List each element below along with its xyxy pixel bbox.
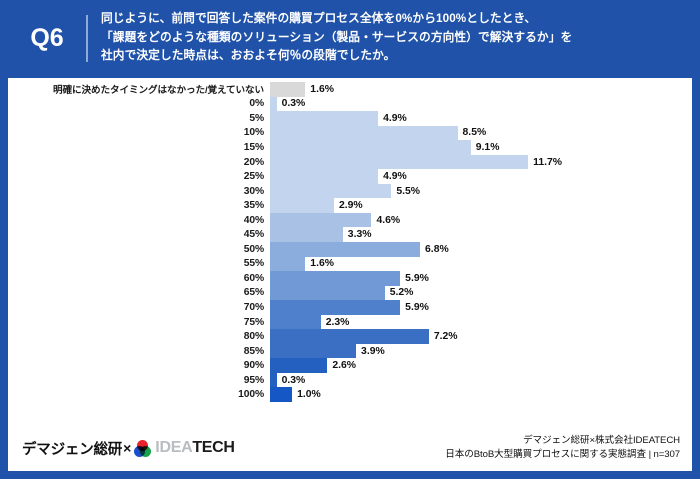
bar-area: 9.1% [270,140,692,155]
slide-root: Q6 同じように、前問で回答した案件の購買プロセス全体を0%から100%としたと… [0,0,700,479]
question-number-badge: Q6 [0,24,86,53]
category-label: 0% [8,98,270,109]
bar-value-label: 5.9% [400,301,429,314]
bar [270,213,371,228]
bar [270,82,305,97]
bar-area: 3.9% [270,344,692,359]
bar [270,257,305,272]
bar-value-label: 2.9% [334,199,363,212]
chart-row: 85%3.9% [8,344,692,359]
question-line-3: 社内で決定した時点は、おおよそ何％の段階でしたか。 [101,47,572,66]
category-label: 30% [8,186,270,197]
source-caption: デマジェン総研×株式会社IDEATECH 日本のBtoB大型購買プロセスに関する… [445,434,680,463]
category-label: 40% [8,215,270,226]
bar [270,97,277,112]
bar [270,387,292,402]
brand-cross: × [123,440,131,456]
bar-area: 2.9% [270,198,692,213]
chart-row: 20%11.7% [8,155,692,170]
bar-value-label: 8.5% [458,126,487,139]
bar-value-label: 2.6% [327,359,356,372]
bar [270,242,420,257]
bar-area: 4.6% [270,213,692,228]
chart-row: 55%1.6% [8,257,692,272]
chart-row: 70%5.9% [8,300,692,315]
bar-area: 0.3% [270,373,692,388]
bar-value-label: 3.9% [356,345,385,358]
category-label: 55% [8,258,270,269]
bar-value-label: 7.2% [429,330,458,343]
bar [270,271,400,286]
category-label: 10% [8,127,270,138]
content-panel: 明確に決めたタイミングはなかった/覚えていない1.6%0%0.3%5%4.9%1… [8,78,692,471]
bar [270,198,334,213]
chart-row: 75%2.3% [8,315,692,330]
bar-area: 5.5% [270,184,692,199]
chart-row: 0%0.3% [8,97,692,112]
chart-row: 10%8.5% [8,126,692,141]
bar [270,358,327,373]
bar [270,344,356,359]
bar-area: 1.0% [270,387,692,402]
bar [270,111,378,126]
bar-value-label: 1.6% [305,257,334,270]
bar-area: 5.9% [270,300,692,315]
bar-area: 7.2% [270,329,692,344]
category-label: 100% [8,389,270,400]
bar-area: 4.9% [270,169,692,184]
chart-row: 65%5.2% [8,286,692,301]
bar-area: 6.8% [270,242,692,257]
ideatech-logo-icon [134,440,151,457]
bar [270,300,400,315]
bar-area: 2.6% [270,358,692,373]
category-label: 15% [8,142,270,153]
bar-area: 11.7% [270,155,692,170]
bar-area: 2.3% [270,315,692,330]
chart-row: 15%9.1% [8,140,692,155]
bar-area: 4.9% [270,111,692,126]
bar [270,169,378,184]
category-label: 60% [8,273,270,284]
bar [270,286,385,301]
brand-name: デマジェン総研 [22,438,122,459]
bar-value-label: 4.6% [371,214,400,227]
brand-lockup: デマジェン総研 × IDEA TECH [22,438,235,459]
category-label: 明確に決めたタイミングはなかった/覚えていない [8,82,270,96]
bar [270,373,277,388]
header-divider [86,15,88,62]
bar-value-label: 0.3% [277,97,306,110]
bar-value-label: 4.9% [378,170,407,183]
category-label: 95% [8,375,270,386]
question-text: 同じように、前問で回答した案件の購買プロセス全体を0%から100%としたとき、 … [101,10,584,67]
bar-area: 5.9% [270,271,692,286]
chart-row: 30%5.5% [8,184,692,199]
question-line-1: 同じように、前問で回答した案件の購買プロセス全体を0%から100%としたとき、 [101,10,572,29]
bar-area: 1.6% [270,257,692,272]
category-label: 35% [8,200,270,211]
bar [270,126,458,141]
bar-value-label: 5.5% [391,185,420,198]
bar-value-label: 5.2% [385,286,414,299]
bar-value-label: 6.8% [420,243,449,256]
chart-row: 100%1.0% [8,387,692,402]
chart-row: 60%5.9% [8,271,692,286]
category-label: 45% [8,229,270,240]
bar-value-label: 9.1% [471,141,500,154]
bar [270,329,429,344]
question-line-2: 「課題をどのような種類のソリューション（製品・サービスの方向性）で解決するか」を [101,29,572,48]
category-label: 90% [8,360,270,371]
chart-row: 明確に決めたタイミングはなかった/覚えていない1.6% [8,82,692,97]
logo-idea-text: IDEA [155,439,192,457]
bar-value-label: 1.6% [305,83,334,96]
horizontal-bar-chart: 明確に決めたタイミングはなかった/覚えていない1.6%0%0.3%5%4.9%1… [8,82,692,425]
bar-area: 8.5% [270,126,692,141]
chart-row: 90%2.6% [8,358,692,373]
footer: デマジェン総研 × IDEA TECH デマジェン総研×株式会社IDEATECH… [8,425,692,471]
category-label: 75% [8,317,270,328]
category-label: 50% [8,244,270,255]
bar-value-label: 3.3% [343,228,372,241]
category-label: 65% [8,287,270,298]
question-header: Q6 同じように、前問で回答した案件の購買プロセス全体を0%から100%としたと… [0,0,700,76]
chart-row: 50%6.8% [8,242,692,257]
caption-line-1: デマジェン総研×株式会社IDEATECH [445,434,680,448]
bar-area: 5.2% [270,286,692,301]
bar-value-label: 0.3% [277,374,306,387]
chart-row: 40%4.6% [8,213,692,228]
bar [270,140,471,155]
chart-row: 5%4.9% [8,111,692,126]
bar-value-label: 4.9% [378,112,407,125]
bar [270,315,321,330]
bar-area: 1.6% [270,82,692,97]
bar-value-label: 11.7% [528,156,562,169]
category-label: 25% [8,171,270,182]
logo-tech-text: TECH [192,439,234,457]
bar-area: 3.3% [270,227,692,242]
chart-row: 95%0.3% [8,373,692,388]
chart-row: 35%2.9% [8,198,692,213]
chart-row: 80%7.2% [8,329,692,344]
bar-area: 0.3% [270,97,692,112]
category-label: 85% [8,346,270,357]
category-label: 70% [8,302,270,313]
bar [270,155,528,170]
bar-value-label: 5.9% [400,272,429,285]
chart-row: 25%4.9% [8,169,692,184]
bar-value-label: 2.3% [321,316,350,329]
bar-value-label: 1.0% [292,388,321,401]
chart-row: 45%3.3% [8,227,692,242]
caption-line-2: 日本のBtoB大型購買プロセスに関する実態調査 | n=307 [445,448,680,462]
category-label: 5% [8,113,270,124]
bar [270,227,343,242]
category-label: 80% [8,331,270,342]
category-label: 20% [8,157,270,168]
bar [270,184,391,199]
